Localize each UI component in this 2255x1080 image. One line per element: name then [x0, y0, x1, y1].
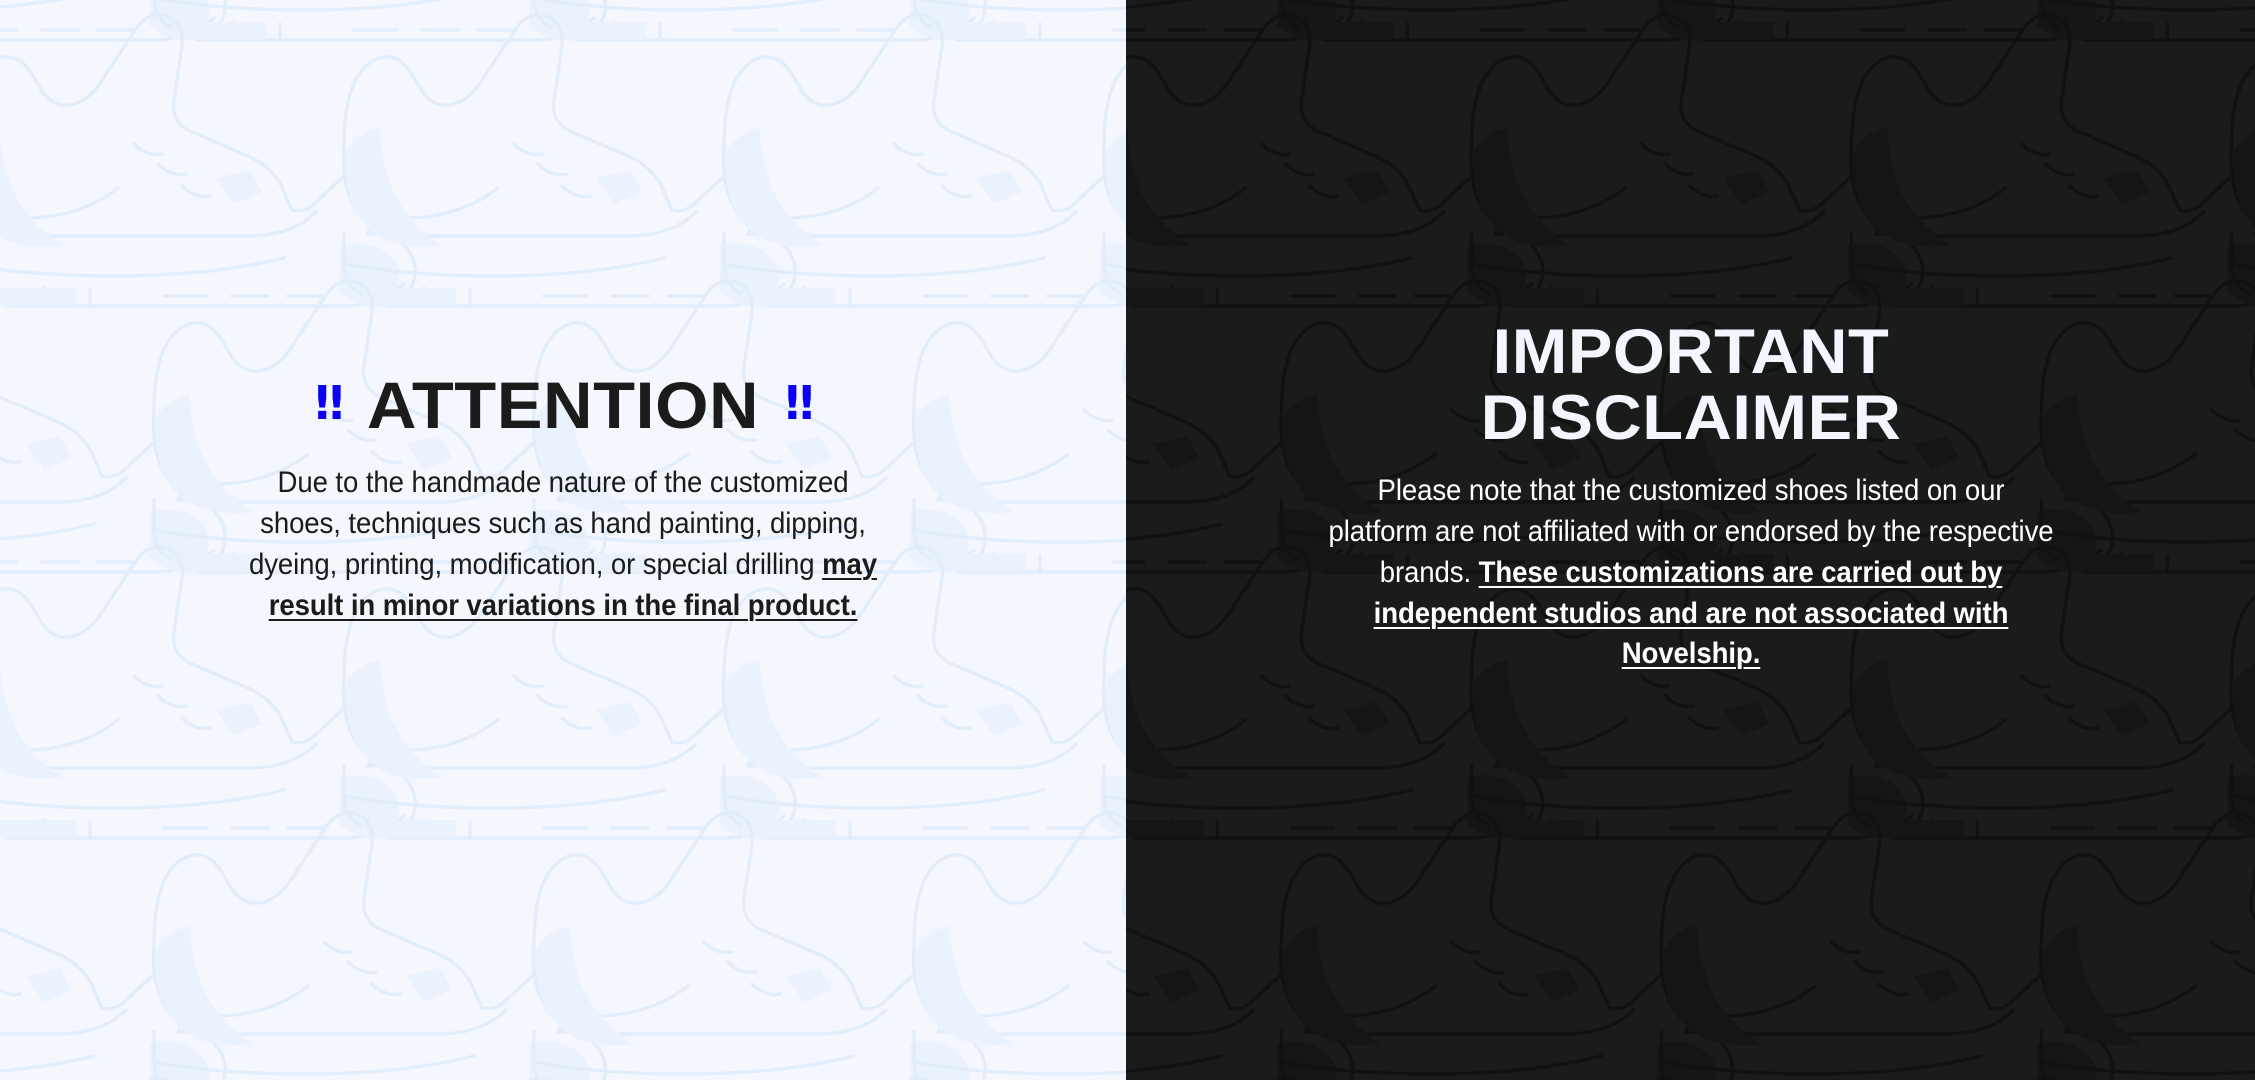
- disclaimer-content: IMPORTANT DISCLAIMER Please note that th…: [1261, 0, 2121, 675]
- disclaimer-heading-line1: IMPORTANT: [1492, 320, 1889, 386]
- attention-heading: ‼ ATTENTION ‼: [116, 372, 1010, 438]
- disclaimer-heading: IMPORTANT DISCLAIMER: [1235, 320, 2147, 451]
- disclaimer-body: Please note that the customized shoes li…: [1288, 471, 2092, 675]
- attention-heading-word: ATTENTION: [367, 372, 759, 438]
- promo-banner: ‼ ATTENTION ‼ Due to the handmade nature…: [0, 0, 2255, 1080]
- double-exclamation-left-icon: ‼: [315, 380, 342, 426]
- disclaimer-heading-line2: DISCLAIMER: [1480, 386, 1901, 452]
- attention-body: Due to the handmade nature of the custom…: [161, 463, 965, 626]
- double-exclamation-right-icon: ‼: [785, 380, 812, 426]
- attention-content: ‼ ATTENTION ‼ Due to the handmade nature…: [133, 0, 993, 626]
- disclaimer-panel: IMPORTANT DISCLAIMER Please note that th…: [1126, 0, 2255, 1080]
- attention-panel: ‼ ATTENTION ‼ Due to the handmade nature…: [0, 0, 1126, 1080]
- attention-body-normal: Due to the handmade nature of the custom…: [249, 466, 866, 581]
